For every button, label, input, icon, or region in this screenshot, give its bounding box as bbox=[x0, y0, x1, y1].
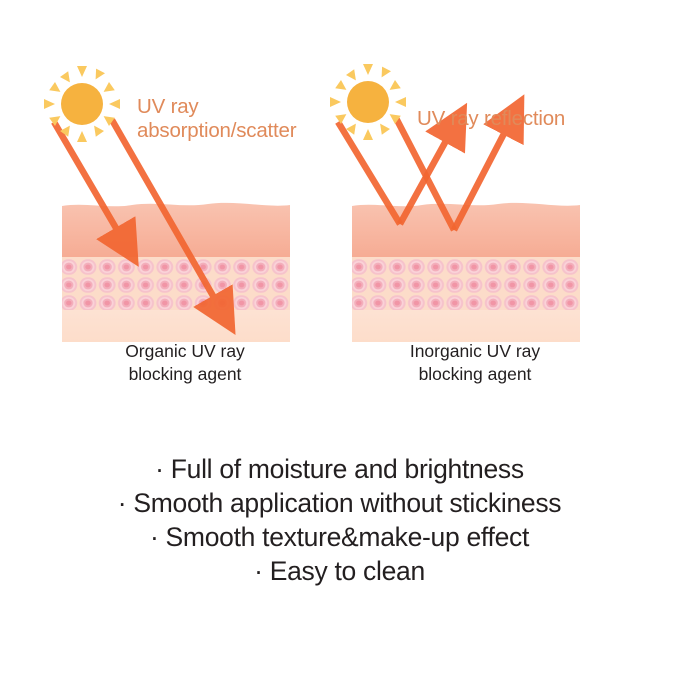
sun-body bbox=[61, 83, 103, 125]
skin-layer-cellband bbox=[352, 257, 580, 311]
sunscreen-infographic: UV ray absorption/scatter Organic UV ray… bbox=[0, 0, 679, 679]
skin-cross-section bbox=[352, 203, 580, 342]
panel-inorganic: UV ray reflection Inorganic UV ray block… bbox=[330, 60, 620, 400]
skin-cross-section bbox=[62, 203, 290, 342]
panel-organic: UV ray absorption/scatter Organic UV ray… bbox=[40, 60, 330, 400]
benefit-item: · Full of moisture and brightness bbox=[0, 452, 679, 486]
caption-inorganic: Inorganic UV ray blocking agent bbox=[330, 340, 620, 387]
inorganic-diagram bbox=[330, 60, 620, 350]
ray-label-organic: UV ray absorption/scatter bbox=[137, 95, 296, 143]
caption-organic: Organic UV ray blocking agent bbox=[40, 340, 330, 387]
skin-layer-cellband bbox=[62, 257, 290, 311]
benefit-item: · Easy to clean bbox=[0, 554, 679, 588]
ray-label-inorganic: UV ray reflection bbox=[417, 107, 565, 131]
skin-layer-hypodermis bbox=[62, 310, 290, 342]
sun-body bbox=[347, 81, 389, 123]
benefit-item: · Smooth application without stickiness bbox=[0, 486, 679, 520]
benefits-list: · Full of moisture and brightness · Smoo… bbox=[0, 452, 679, 588]
benefit-item: · Smooth texture&make-up effect bbox=[0, 520, 679, 554]
skin-layer-hypodermis bbox=[352, 310, 580, 342]
